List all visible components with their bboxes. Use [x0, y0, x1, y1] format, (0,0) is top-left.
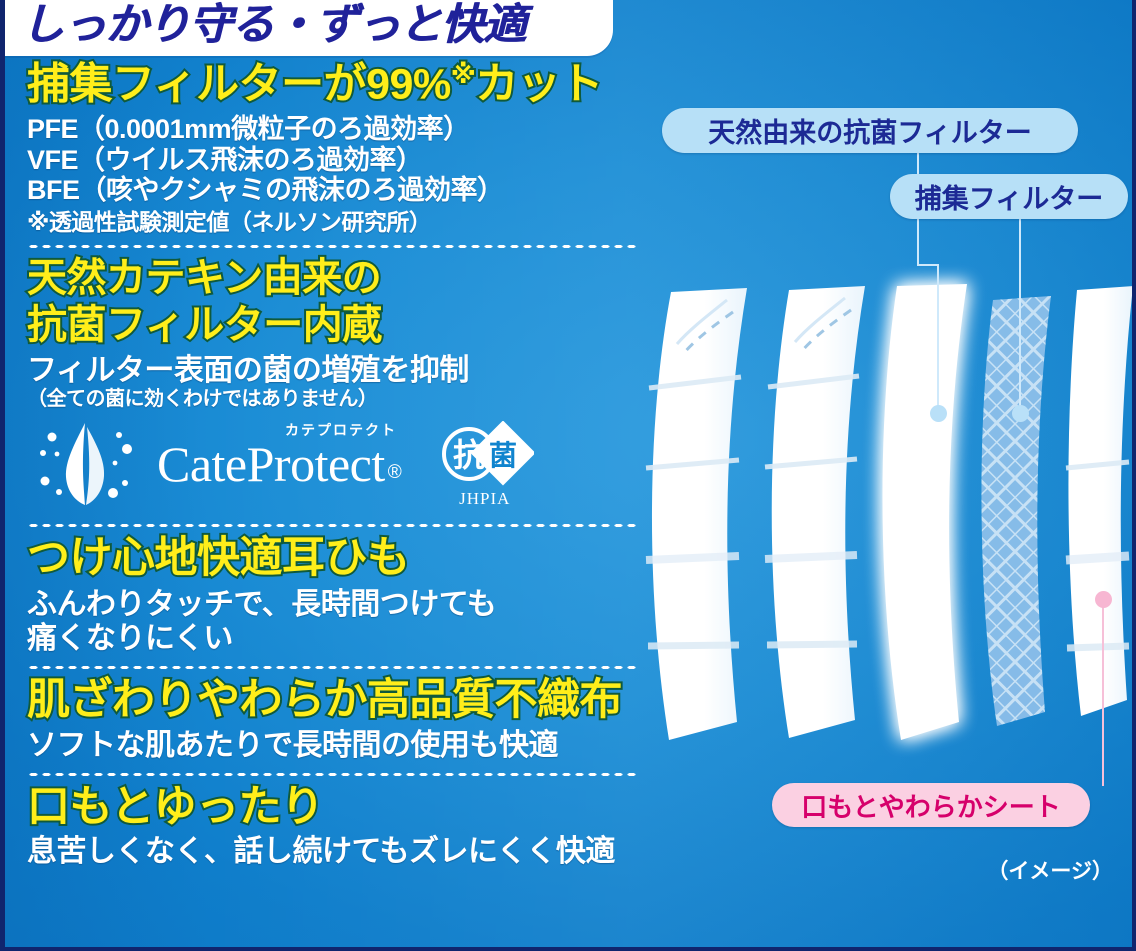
feature-catechin-note: （全ての菌に効くわけではありません）: [27, 388, 645, 411]
cateprotect-wordmark: カテプロテクト CateProtect ®: [157, 439, 402, 489]
mask-layer-3: [882, 284, 967, 740]
mask-layer-1: [646, 288, 747, 740]
feature-mouth: 口もとゆったり 息苦しくなく、話し続けてもズレにくく快適: [5, 785, 645, 870]
leader-line-collection: [1019, 219, 1021, 413]
mask-layer-illustration: 天然由来の抗菌フィルター 捕集フィルター 口もとやわらかシート （イメージ）: [629, 0, 1136, 951]
feature-filter-note: ※透過性試験測定値（ネルソン研究所）: [27, 209, 645, 235]
mask-layer-2: [765, 286, 865, 738]
feature-mouth-line-1: 息苦しくなく、話し続けてもズレにくく快適: [27, 835, 645, 869]
header-banner: しっかり守る・ずっと快適: [0, 0, 613, 56]
callout-soft-mouth-sheet-label: 口もとやわらかシート: [801, 787, 1060, 824]
callout-antibacterial-filter-label: 天然由来の抗菌フィルター: [708, 111, 1031, 150]
registered-mark: ®: [388, 462, 402, 489]
leader-line-antibacterial-drop: [937, 264, 939, 412]
feature-earloop-line-1: ふんわりタッチで、長時間つけても: [27, 588, 645, 622]
cateprotect-ruby: カテプロテクト: [285, 420, 397, 440]
feature-catechin: 天然カテキン由来の 抗菌フィルター内蔵 フィルター表面の菌の増殖を抑制 （全ての…: [5, 257, 645, 411]
callout-collection-filter[interactable]: 捕集フィルター: [890, 174, 1128, 219]
cateprotect-logo: カテプロテクト CateProtect ® 抗 菌 JHPIA: [5, 411, 645, 511]
feature-filter-line-1: PFE（0.0001mm微粒子のろ過効率）: [27, 114, 645, 145]
divider-1: [27, 244, 637, 248]
jhpia-antibacterial-icon: 抗 菌 JHPIA: [436, 421, 534, 507]
divider-4: [27, 772, 637, 776]
leader-dot-collection: [1012, 405, 1029, 422]
feature-catechin-heading-line-2: 抗菌フィルター内蔵: [27, 304, 645, 346]
feature-filter-heading: 捕集フィルターが99%※カット: [27, 62, 645, 108]
features-column: 捕集フィルターが99%※カット PFE（0.0001mm微粒子のろ過効率） VF…: [5, 62, 645, 870]
feature-catechin-heading-line-1: 天然カテキン由来の: [27, 257, 645, 299]
divider-3: [27, 665, 637, 669]
divider-2: [27, 523, 637, 527]
svg-text:菌: 菌: [489, 440, 517, 471]
page-title: しっかり守る・ずっと快適: [21, 4, 525, 47]
feature-catechin-line-1: フィルター表面の菌の増殖を抑制: [27, 354, 645, 388]
callout-collection-filter-label: 捕集フィルター: [915, 177, 1103, 216]
feature-earloop-heading: つけ心地快適耳ひも: [27, 536, 645, 582]
leader-line-antibacterial-horizontal: [917, 264, 939, 266]
product-feature-poster: しっかり守る・ずっと快適 捕集フィルターが99%※カット PFE（0.0001m…: [0, 0, 1136, 951]
image-note: （イメージ）: [987, 855, 1113, 885]
leader-dot-antibacterial: [930, 405, 947, 422]
feature-earloop-line-2: 痛くなりにくい: [27, 622, 645, 656]
leader-dot-soft-sheet: [1095, 591, 1112, 608]
jhpia-label: JHPIA: [436, 489, 534, 509]
feature-earloop: つけ心地快適耳ひも ふんわりタッチで、長時間つけても 痛くなりにくい: [5, 536, 645, 656]
feature-filter-line-2: VFE（ウイルス飛沫のろ過効率）: [27, 145, 645, 176]
leader-line-soft-sheet: [1102, 600, 1104, 786]
leaf-icon: [35, 421, 135, 507]
feature-fabric: 肌ざわりやわらか高品質不織布 ソフトな肌あたりで長時間の使用も快適: [5, 678, 645, 763]
asterisk-mark: ※: [451, 61, 476, 89]
callout-antibacterial-filter[interactable]: 天然由来の抗菌フィルター: [662, 108, 1078, 153]
feature-fabric-line-1: ソフトな肌あたりで長時間の使用も快適: [27, 729, 645, 763]
feature-mouth-heading: 口もとゆったり: [27, 785, 645, 831]
feature-filter-line-3: BFE（咳やクシャミの飛沫のろ過効率）: [27, 175, 645, 206]
mask-layer-4-mesh: [981, 296, 1051, 726]
callout-soft-mouth-sheet[interactable]: 口もとやわらかシート: [772, 783, 1090, 827]
feature-fabric-heading: 肌ざわりやわらか高品質不織布: [27, 678, 645, 724]
feature-filter: 捕集フィルターが99%※カット PFE（0.0001mm微粒子のろ過効率） VF…: [5, 62, 645, 235]
cateprotect-name: CateProtect: [157, 439, 385, 489]
mask-layer-5: [1066, 286, 1133, 716]
